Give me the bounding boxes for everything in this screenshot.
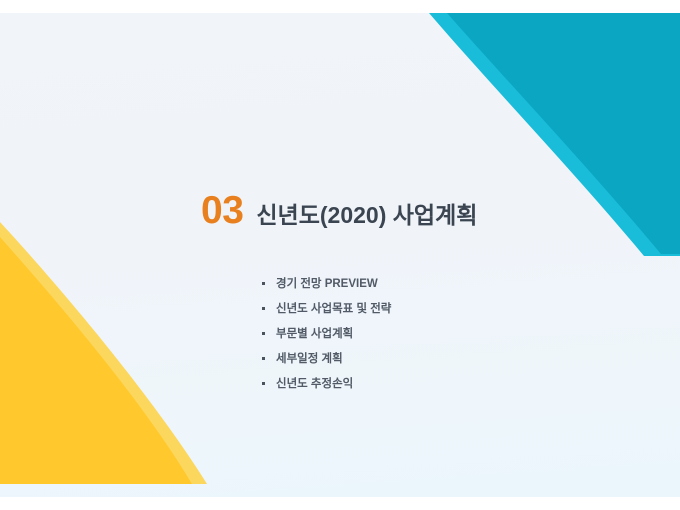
list-item-label: 경기 전망 PREVIEW bbox=[276, 275, 378, 291]
list-item-label: 세부일정 계획 bbox=[276, 350, 343, 366]
bullet-marker-icon bbox=[262, 382, 265, 385]
bullet-marker-icon bbox=[262, 332, 265, 335]
slide-root: 03 신년도(2020) 사업계획 경기 전망 PREVIEW 신년도 사업목표… bbox=[0, 0, 680, 510]
slide-content: 03 신년도(2020) 사업계획 경기 전망 PREVIEW 신년도 사업목표… bbox=[0, 13, 680, 497]
slide-heading: 03 신년도(2020) 사업계획 bbox=[201, 191, 477, 230]
list-item-label: 신년도 사업목표 및 전략 bbox=[276, 300, 391, 316]
slide-canvas: 03 신년도(2020) 사업계획 경기 전망 PREVIEW 신년도 사업목표… bbox=[0, 13, 680, 497]
list-item-label: 신년도 추정손익 bbox=[276, 375, 353, 391]
list-item[interactable]: 경기 전망 PREVIEW bbox=[262, 271, 391, 295]
list-item[interactable]: 신년도 사업목표 및 전략 bbox=[262, 296, 391, 320]
list-item[interactable]: 신년도 추정손익 bbox=[262, 371, 391, 395]
list-item-label: 부문별 사업계획 bbox=[276, 325, 353, 341]
bullet-marker-icon bbox=[262, 357, 265, 360]
list-item[interactable]: 세부일정 계획 bbox=[262, 346, 391, 370]
list-item[interactable]: 부문별 사업계획 bbox=[262, 321, 391, 345]
bullet-marker-icon bbox=[262, 307, 265, 310]
section-number: 03 bbox=[201, 191, 243, 230]
agenda-list: 경기 전망 PREVIEW 신년도 사업목표 및 전략 부문별 사업계획 세부일… bbox=[262, 271, 391, 396]
page-title: 신년도(2020) 사업계획 bbox=[256, 204, 477, 227]
bullet-marker-icon bbox=[262, 282, 265, 285]
